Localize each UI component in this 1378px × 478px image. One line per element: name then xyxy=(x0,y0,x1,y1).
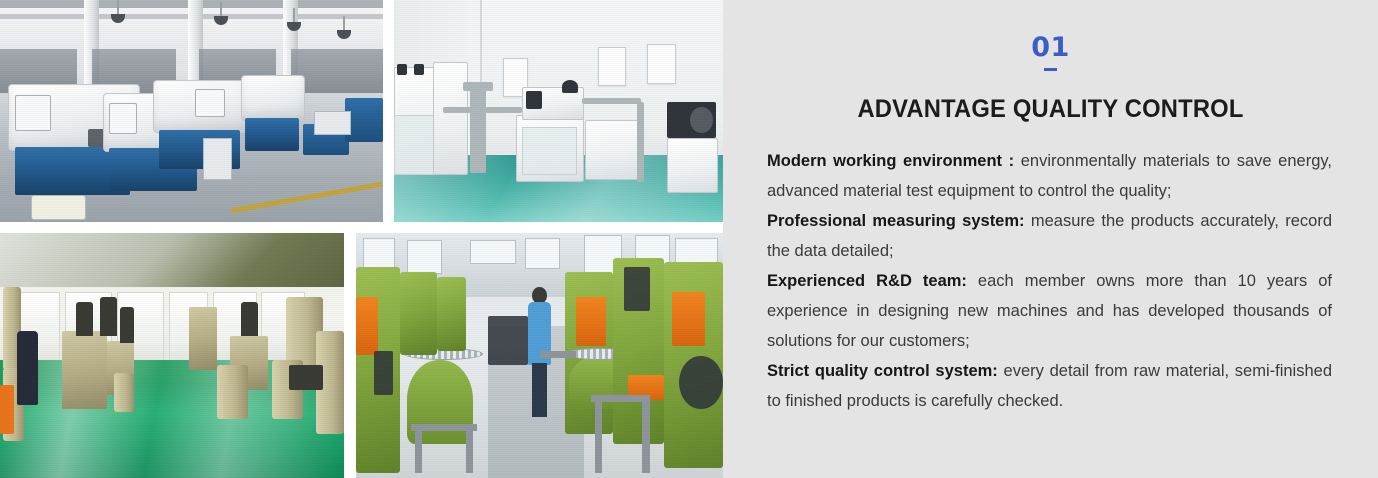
feature-item-4: Strict quality control system: every det… xyxy=(767,356,1332,416)
feature-label-3: Experienced R&D team: xyxy=(767,272,967,290)
photo-measuring-lab[interactable] xyxy=(394,0,723,222)
photo-gallery xyxy=(0,0,723,478)
section-number-underline xyxy=(1044,68,1057,71)
feature-list: Modern working environment : environment… xyxy=(767,146,1332,416)
advantage-quality-control-section: 01 ADVANTAGE QUALITY CONTROL Modern work… xyxy=(0,0,1378,478)
feature-label-1: Modern working environment : xyxy=(767,152,1014,170)
feature-item-2: Professional measuring system: measure t… xyxy=(767,206,1332,266)
feature-label-4: Strict quality control system: xyxy=(767,362,998,380)
photo-cnc-workshop[interactable] xyxy=(0,0,383,222)
section-number: 01 xyxy=(723,0,1378,61)
feature-item-1: Modern working environment : environment… xyxy=(767,146,1332,206)
content-panel: 01 ADVANTAGE QUALITY CONTROL Modern work… xyxy=(723,0,1378,478)
feature-item-3: Experienced R&D team: each member owns m… xyxy=(767,266,1332,356)
photo-press-line[interactable] xyxy=(356,233,723,478)
photo-green-workshop[interactable] xyxy=(0,233,344,478)
feature-label-2: Professional measuring system: xyxy=(767,212,1025,230)
page-title: ADVANTAGE QUALITY CONTROL xyxy=(739,95,1361,124)
